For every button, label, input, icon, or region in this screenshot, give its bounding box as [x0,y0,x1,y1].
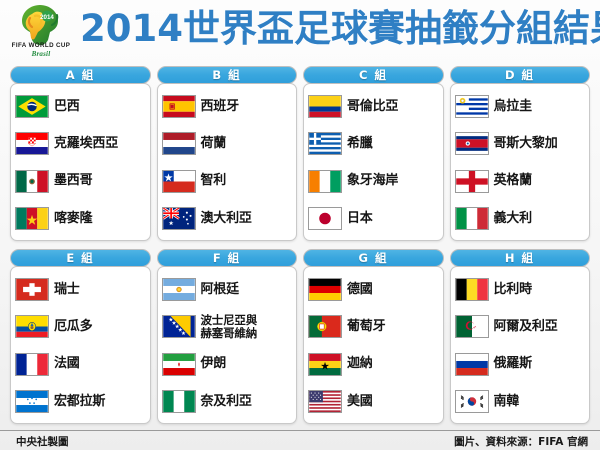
team-name: 伊朗 [201,357,227,371]
italy-flag [455,207,489,230]
greece-flag [308,132,342,155]
team-row: 美國 [308,387,440,415]
group-team-list-a: 巴西克羅埃西亞墨西哥喀麥隆 [10,83,151,241]
team-name: 澳大利亞 [201,212,252,226]
team-row: 西班牙 [162,93,294,121]
group-header-f: F 組 [157,249,298,267]
footer-credit: 中央社製圖 [16,434,69,449]
group-panel-d: D 組烏拉圭哥斯大黎加英格蘭義大利 [450,66,591,241]
honduras-flag [15,390,49,413]
group-panel-e: E 組瑞士厄瓜多法國宏都拉斯 [10,249,151,424]
group-header-d: D 組 [450,66,591,84]
bosnia-herzegovina-flag [162,315,196,338]
germany-flag [308,278,342,301]
spain-flag [162,95,196,118]
team-name: 喀麥隆 [54,212,92,226]
algeria-flag [455,315,489,338]
team-name: 哥倫比亞 [347,100,398,114]
team-name: 美國 [347,395,373,409]
team-row: 俄羅斯 [455,350,587,378]
team-row: 墨西哥 [15,167,147,195]
team-row: 澳大利亞 [162,204,294,232]
team-row: 義大利 [455,204,587,232]
team-row: 阿爾及利亞 [455,313,587,341]
group-panel-h: H 組比利時阿爾及利亞俄羅斯南韓 [450,249,591,424]
logo-caption-fifa-world-cup: FIFA WORLD CUP [6,42,76,49]
team-name: 阿爾及利亞 [494,320,558,334]
group-panel-f: F 組阿根廷波士尼亞與 赫塞哥維納伊朗奈及利亞 [157,249,298,424]
team-name: 巴西 [54,100,80,114]
team-row: 巴西 [15,93,147,121]
team-row: 比利時 [455,276,587,304]
team-name: 象牙海岸 [347,174,398,188]
group-header-g: G 組 [303,249,444,267]
team-row: 哥斯大黎加 [455,130,587,158]
footer-divider [0,430,600,431]
group-team-list-g: 德國葡萄牙迦納美國 [303,266,444,424]
group-panel-c: C 組哥倫比亞希臘象牙海岸日本 [303,66,444,241]
team-row: 英格蘭 [455,167,587,195]
team-name: 英格蘭 [494,174,532,188]
croatia-flag [15,132,49,155]
team-name: 智利 [201,174,227,188]
team-row: 烏拉圭 [455,93,587,121]
group-header-h: H 組 [450,249,591,267]
team-row: 荷蘭 [162,130,294,158]
team-row: 日本 [308,204,440,232]
group-team-list-d: 烏拉圭哥斯大黎加英格蘭義大利 [450,83,591,241]
team-name: 厄瓜多 [54,320,92,334]
team-row: 德國 [308,276,440,304]
argentina-flag [162,278,196,301]
group-header-a: A 組 [10,66,151,84]
cameroon-flag [15,207,49,230]
portugal-flag [308,315,342,338]
footer: 中央社製圖 圖片、資料來源：FIFA 官網 [0,432,600,450]
team-name: 葡萄牙 [347,320,385,334]
groups-grid: A 組巴西克羅埃西亞墨西哥喀麥隆B 組西班牙荷蘭智利澳大利亞C 組哥倫比亞希臘象… [10,66,590,424]
team-name: 迦納 [347,357,373,371]
usa-flag [308,390,342,413]
team-row: 克羅埃西亞 [15,130,147,158]
team-name: 日本 [347,212,373,226]
team-row: 厄瓜多 [15,313,147,341]
group-header-e: E 組 [10,249,151,267]
team-row: 阿根廷 [162,276,294,304]
group-team-list-f: 阿根廷波士尼亞與 赫塞哥維納伊朗奈及利亞 [157,266,298,424]
footer-source: 圖片、資料來源：FIFA 官網 [454,434,588,449]
team-name: 阿根廷 [201,283,239,297]
team-name: 法國 [54,357,80,371]
team-row: 迦納 [308,350,440,378]
group-team-list-b: 西班牙荷蘭智利澳大利亞 [157,83,298,241]
team-name: 荷蘭 [201,137,227,151]
team-name: 宏都拉斯 [54,395,105,409]
group-header-b: B 組 [157,66,298,84]
russia-flag [455,353,489,376]
mexico-flag [15,170,49,193]
australia-flag [162,207,196,230]
team-row: 宏都拉斯 [15,387,147,415]
page-title: 2014世界盃足球賽抽籤分組結果 [80,3,592,55]
team-row: 哥倫比亞 [308,93,440,121]
header: 2014 FIFA WORLD CUP Brasil 2014世界盃足球賽抽籤分… [0,0,600,62]
switzerland-flag [15,278,49,301]
france-flag [15,353,49,376]
ivory-coast-flag [308,170,342,193]
team-name: 奈及利亞 [201,395,252,409]
south-korea-flag [455,390,489,413]
team-name: 西班牙 [201,100,239,114]
team-name: 俄羅斯 [494,357,532,371]
group-team-list-c: 哥倫比亞希臘象牙海岸日本 [303,83,444,241]
infographic-canvas: 2014 FIFA WORLD CUP Brasil 2014世界盃足球賽抽籤分… [0,0,600,450]
costa-rica-flag [455,132,489,155]
team-name: 波士尼亞與 赫塞哥維納 [201,314,258,339]
japan-flag [308,207,342,230]
nigeria-flag [162,390,196,413]
team-row: 法國 [15,350,147,378]
team-name: 德國 [347,283,373,297]
team-row: 瑞士 [15,276,147,304]
team-name: 比利時 [494,283,532,297]
logo-caption-brasil: Brasil [6,50,76,58]
england-flag [455,170,489,193]
team-row: 波士尼亞與 赫塞哥維納 [162,313,294,341]
team-name: 烏拉圭 [494,100,532,114]
team-name: 墨西哥 [54,174,92,188]
group-team-list-h: 比利時阿爾及利亞俄羅斯南韓 [450,266,591,424]
group-panel-g: G 組德國葡萄牙迦納美國 [303,249,444,424]
colombia-flag [308,95,342,118]
team-name: 南韓 [494,395,520,409]
team-row: 象牙海岸 [308,167,440,195]
team-name: 希臘 [347,137,373,151]
team-row: 伊朗 [162,350,294,378]
team-name: 克羅埃西亞 [54,137,118,151]
chile-flag [162,170,196,193]
team-row: 葡萄牙 [308,313,440,341]
group-panel-b: B 組西班牙荷蘭智利澳大利亞 [157,66,298,241]
belgium-flag [455,278,489,301]
ghana-flag [308,353,342,376]
ecuador-flag [15,315,49,338]
uruguay-flag [455,95,489,118]
svg-text:2014: 2014 [40,14,54,21]
team-row: 希臘 [308,130,440,158]
team-row: 奈及利亞 [162,387,294,415]
team-name: 義大利 [494,212,532,226]
group-panel-a: A 組巴西克羅埃西亞墨西哥喀麥隆 [10,66,151,241]
group-header-c: C 組 [303,66,444,84]
team-row: 喀麥隆 [15,204,147,232]
netherlands-flag [162,132,196,155]
brazil-flag [15,95,49,118]
iran-flag [162,353,196,376]
team-row: 智利 [162,167,294,195]
group-team-list-e: 瑞士厄瓜多法國宏都拉斯 [10,266,151,424]
team-name: 瑞士 [54,283,80,297]
team-row: 南韓 [455,387,587,415]
team-name: 哥斯大黎加 [494,137,558,151]
